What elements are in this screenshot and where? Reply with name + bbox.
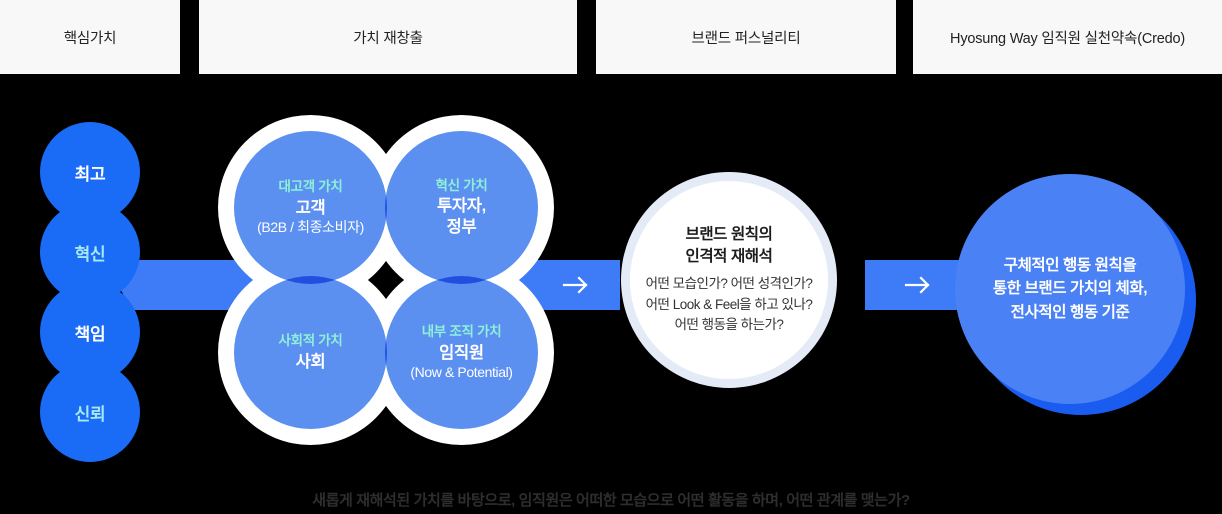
core-value-label: 책임: [75, 320, 106, 345]
credo-line-3: 전사적인 행동 기준: [993, 301, 1147, 325]
arrow-right-icon: [893, 260, 943, 310]
value-circle-note: (Now & Potential): [410, 364, 512, 382]
core-value-label: 신뢰: [75, 400, 106, 425]
brand-principle-question-3: 어떤 행동을 하는가?: [646, 315, 813, 336]
brand-principle-question-2: 어떤 Look & Feel을 하고 있나?: [646, 295, 813, 316]
header-box-label: 핵심가치: [64, 27, 117, 48]
value-circle-innovation[interactable]: 혁신 가치 투자자, 정부: [385, 131, 538, 284]
header-bar: 핵심가치 가치 재창출 브랜드 퍼스널리티 Hyosung Way 임직원 실천…: [0, 0, 1222, 74]
credo-line-1: 구체적인 행동 원칙을: [993, 254, 1147, 278]
value-circle-sublabel: 대고객 가치: [278, 178, 342, 195]
value-circle-title: 사회: [296, 352, 326, 373]
brand-principle-question-1: 어떤 모습인가? 어떤 성격인가?: [646, 274, 813, 295]
value-circle-title: 고객: [296, 198, 326, 219]
value-circle-sublabel: 사회적 가치: [278, 332, 342, 349]
value-circle-note: 정부: [447, 217, 477, 238]
value-circle-customer[interactable]: 대고객 가치 고객 (B2B / 최종소비자): [234, 131, 387, 284]
value-circle-sublabel: 혁신 가치: [436, 177, 488, 194]
value-circle-title: 투자자,: [437, 196, 486, 217]
value-circle-title: 임직원: [439, 343, 484, 364]
brand-principle-questions: 어떤 모습인가? 어떤 성격인가? 어떤 Look & Feel을 하고 있나?…: [646, 274, 813, 336]
credo-text: 구체적인 행동 원칙을 통한 브랜드 가치의 체화, 전사적인 행동 기준: [993, 254, 1147, 325]
header-box-value-recreation[interactable]: 가치 재창출: [199, 0, 577, 74]
header-box-core-values[interactable]: 핵심가치: [0, 0, 180, 74]
header-box-credo[interactable]: Hyosung Way 임직원 실천약속(Credo): [913, 0, 1222, 74]
bottom-caption: 새롭게 재해석된 가치를 바탕으로, 임직원은 어떠한 모습으로 어떤 활동을 …: [0, 489, 1222, 510]
arrow-right-icon: [551, 260, 601, 310]
header-box-label: 브랜드 퍼스널리티: [692, 27, 801, 48]
header-box-brand-personality[interactable]: 브랜드 퍼스널리티: [596, 0, 896, 74]
brand-principle-circle[interactable]: 브랜드 원칙의 인격적 재해석 어떤 모습인가? 어떤 성격인가? 어떤 Loo…: [630, 181, 828, 379]
value-cluster-group: 대고객 가치 고객 (B2B / 최종소비자) 혁신 가치 투자자, 정부 사회…: [216, 115, 556, 445]
value-circle-employee[interactable]: 내부 조직 가치 임직원 (Now & Potential): [385, 276, 538, 429]
brand-principle-title-line1: 브랜드 원칙의: [685, 224, 772, 246]
value-circle-note: (B2B / 최종소비자): [257, 219, 364, 237]
credo-line-2: 통한 브랜드 가치의 체화,: [993, 277, 1147, 301]
brand-principle-title-line2: 인격적 재해석: [685, 246, 772, 268]
core-value-label: 최고: [75, 160, 106, 185]
credo-circle[interactable]: 구체적인 행동 원칙을 통한 브랜드 가치의 체화, 전사적인 행동 기준: [955, 174, 1185, 404]
value-circle-sublabel: 내부 조직 가치: [422, 323, 502, 340]
header-box-label: 가치 재창출: [353, 27, 423, 48]
brand-principle-title: 브랜드 원칙의 인격적 재해석: [685, 224, 772, 267]
header-box-label: Hyosung Way 임직원 실천약속(Credo): [950, 27, 1185, 48]
core-value-circle-4[interactable]: 신뢰: [40, 362, 140, 462]
value-circle-society[interactable]: 사회적 가치 사회: [234, 276, 387, 429]
core-value-label: 혁신: [75, 240, 106, 265]
